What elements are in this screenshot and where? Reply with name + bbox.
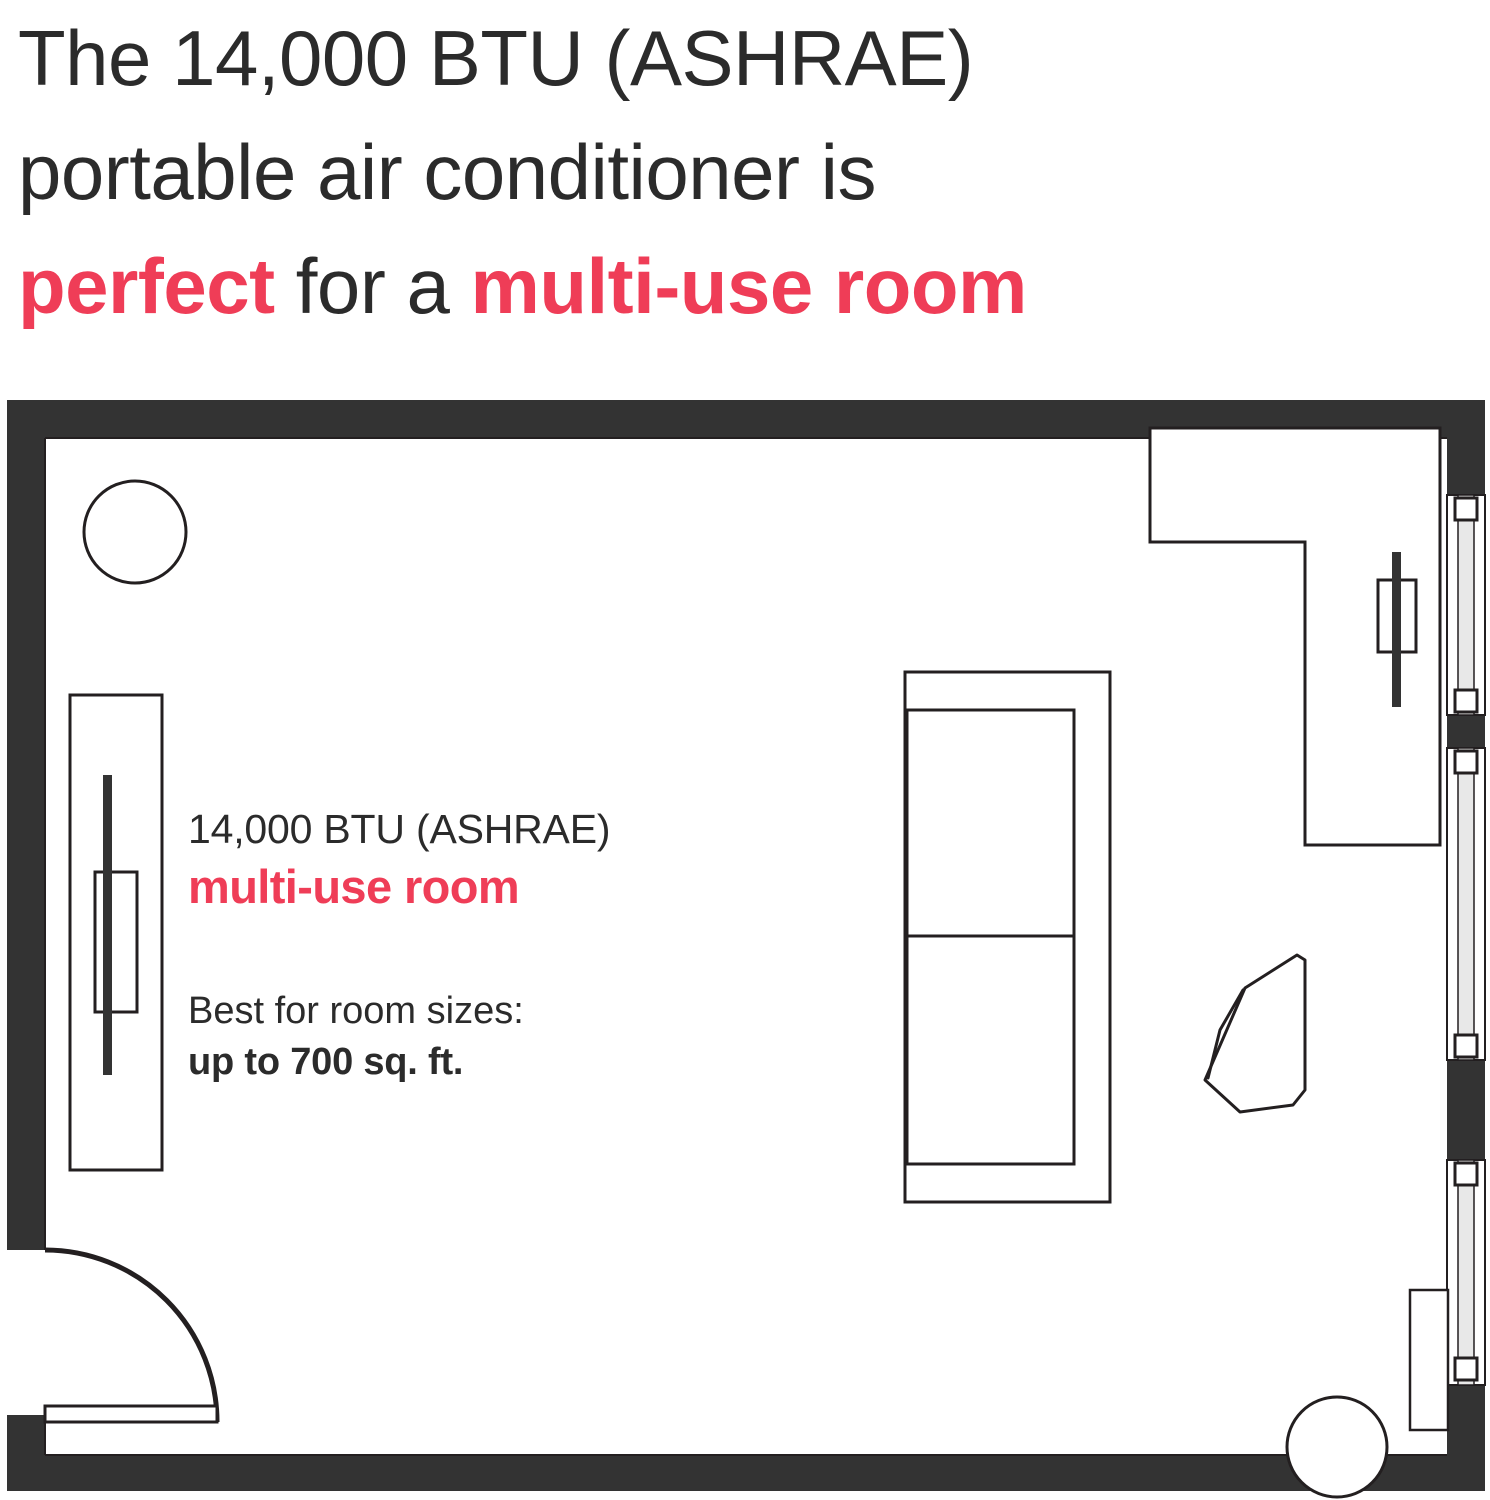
window-frame-mark bbox=[1455, 1163, 1477, 1185]
door-swing-arc bbox=[45, 1250, 217, 1422]
callout-room-label: multi-use room bbox=[188, 859, 808, 915]
callout-best-for-label: Best for room sizes: bbox=[188, 988, 808, 1035]
window-frame-mark bbox=[1455, 1358, 1477, 1380]
sofa-center bbox=[905, 672, 1110, 1202]
window-right-middle bbox=[1447, 748, 1485, 1060]
headline-line-2: portable air conditioner is bbox=[18, 116, 1458, 230]
tv-screen-left bbox=[103, 775, 112, 1075]
wall-left-upper bbox=[7, 400, 45, 1250]
sofa-cushion-upper bbox=[907, 710, 1074, 936]
callout-btu-label: 14,000 BTU (ASHRAE) bbox=[188, 805, 808, 853]
headline: The 14,000 BTU (ASHRAE) portable air con… bbox=[18, 2, 1458, 344]
wall-right-pier-upper-mid bbox=[1447, 715, 1485, 748]
wall-bottom bbox=[7, 1455, 1485, 1491]
window-right-lower bbox=[1447, 1160, 1485, 1385]
entry-door-bottom-left bbox=[45, 1250, 217, 1422]
console-inner-shelf bbox=[95, 872, 137, 1012]
wall-right-pier-top bbox=[1447, 400, 1485, 495]
window-frame-mark bbox=[1455, 498, 1477, 520]
window-frame-mark bbox=[1455, 751, 1477, 773]
round-side-table-top-left bbox=[84, 481, 186, 583]
monitor-screen bbox=[1392, 552, 1401, 707]
room-callout: 14,000 BTU (ASHRAE) multi-use room Best … bbox=[188, 805, 808, 1086]
sofa-cushion-lower bbox=[907, 936, 1074, 1164]
door-panel bbox=[45, 1406, 217, 1422]
wall-right-pier-lower-mid bbox=[1447, 1060, 1485, 1160]
desk-chair bbox=[1205, 955, 1305, 1112]
headline-accent-perfect: perfect bbox=[18, 242, 275, 330]
window-right-upper bbox=[1447, 495, 1485, 715]
headline-line-3: perfect for a multi-use room bbox=[18, 230, 1458, 344]
wall-right-pier-bottom bbox=[1447, 1385, 1485, 1491]
headline-line-1: The 14,000 BTU (ASHRAE) bbox=[18, 2, 1458, 116]
media-console-left-wall bbox=[70, 695, 162, 1170]
window-frame-mark bbox=[1455, 690, 1477, 712]
cabinet-bottom-right bbox=[1410, 1290, 1448, 1430]
round-side-table-bottom-right bbox=[1287, 1397, 1387, 1497]
headline-accent-room: multi-use room bbox=[471, 242, 1027, 330]
headline-connector: for a bbox=[275, 242, 471, 330]
window-frame-mark bbox=[1455, 1035, 1477, 1057]
callout-size-label: up to 700 sq. ft. bbox=[188, 1039, 808, 1086]
windows-right-wall bbox=[1447, 495, 1485, 1385]
